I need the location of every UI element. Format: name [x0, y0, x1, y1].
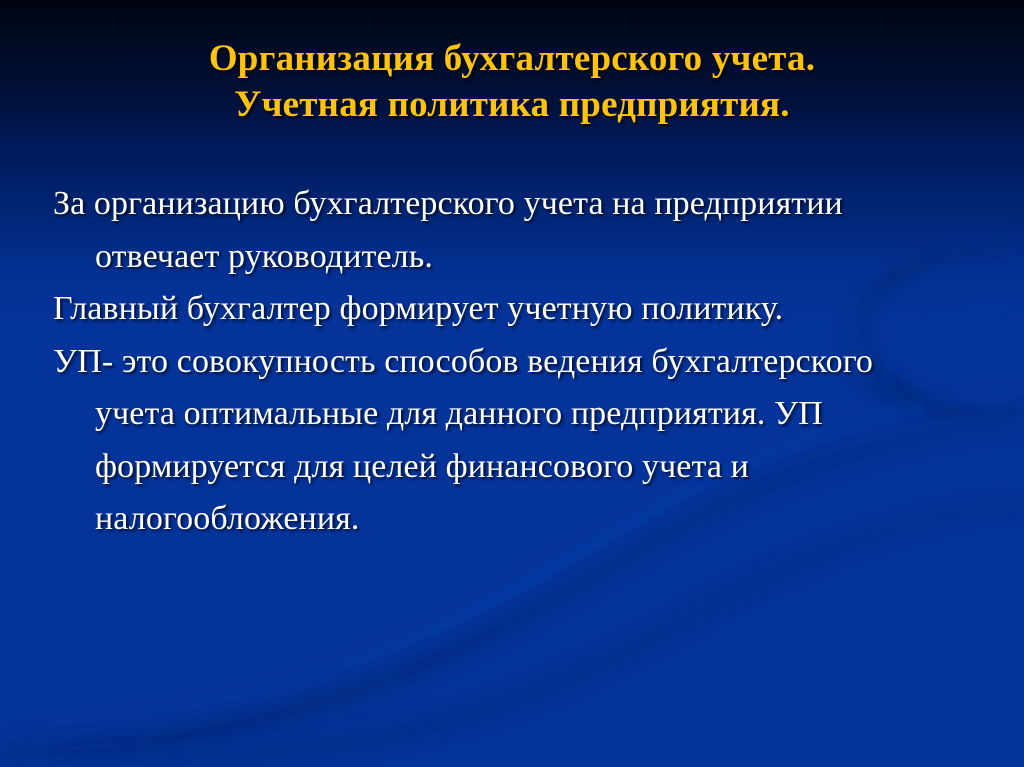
presentation-slide: Организация бухгалтерского учета. Учетна… — [0, 0, 1024, 767]
body-paragraph-1: За организацию бухгалтерского учета на п… — [53, 178, 953, 283]
slide-title: Организация бухгалтерского учета. Учетна… — [0, 36, 1024, 128]
body-paragraph-2: Главный бухгалтер формирует учетную поли… — [53, 283, 953, 336]
title-line-1: Организация бухгалтерского учета. — [0, 36, 1024, 82]
body-paragraph-3: УП- это совокупность способов ведения бу… — [53, 336, 953, 546]
title-line-2: Учетная политика предприятия. — [0, 82, 1024, 128]
slide-body: За организацию бухгалтерского учета на п… — [53, 178, 953, 546]
